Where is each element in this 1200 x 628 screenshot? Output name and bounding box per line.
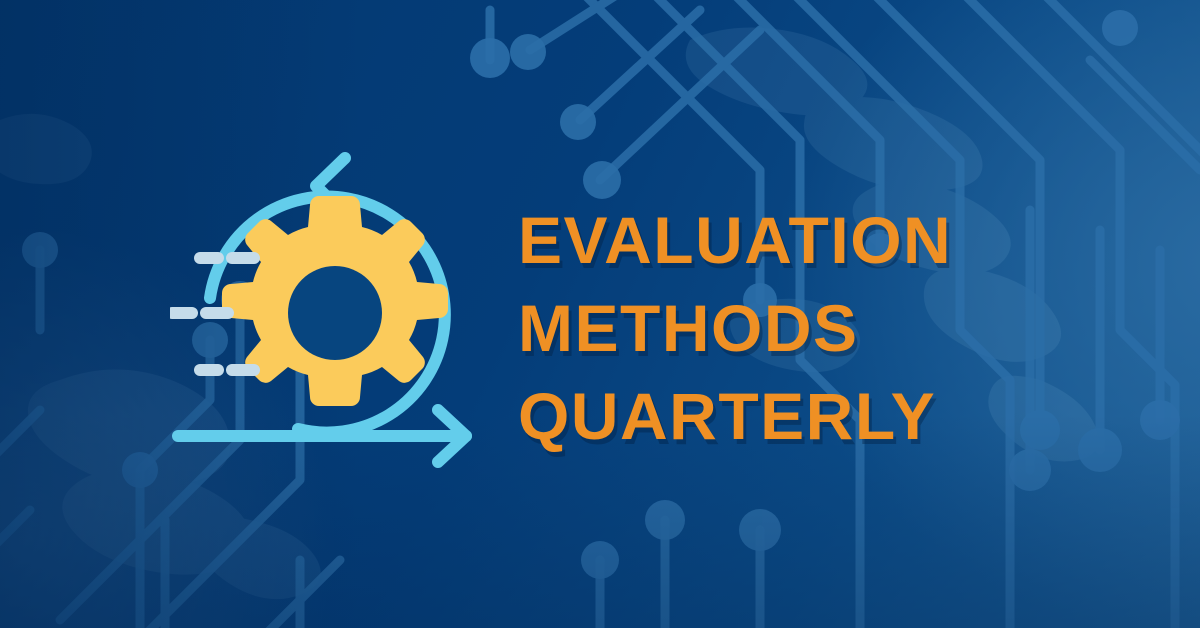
- title-line-3: QUARTERLY: [518, 372, 1158, 460]
- gear-refresh-arrow-logo: [170, 148, 500, 478]
- page-title: EVALUATION METHODS QUARTERLY: [518, 196, 1158, 460]
- title-line-1: EVALUATION: [518, 196, 1158, 284]
- forward-arrow-icon: [178, 410, 466, 462]
- banner-canvas: EVALUATION METHODS QUARTERLY: [0, 0, 1200, 628]
- banner-content: EVALUATION METHODS QUARTERLY: [0, 0, 1200, 628]
- title-line-2: METHODS: [518, 284, 1158, 372]
